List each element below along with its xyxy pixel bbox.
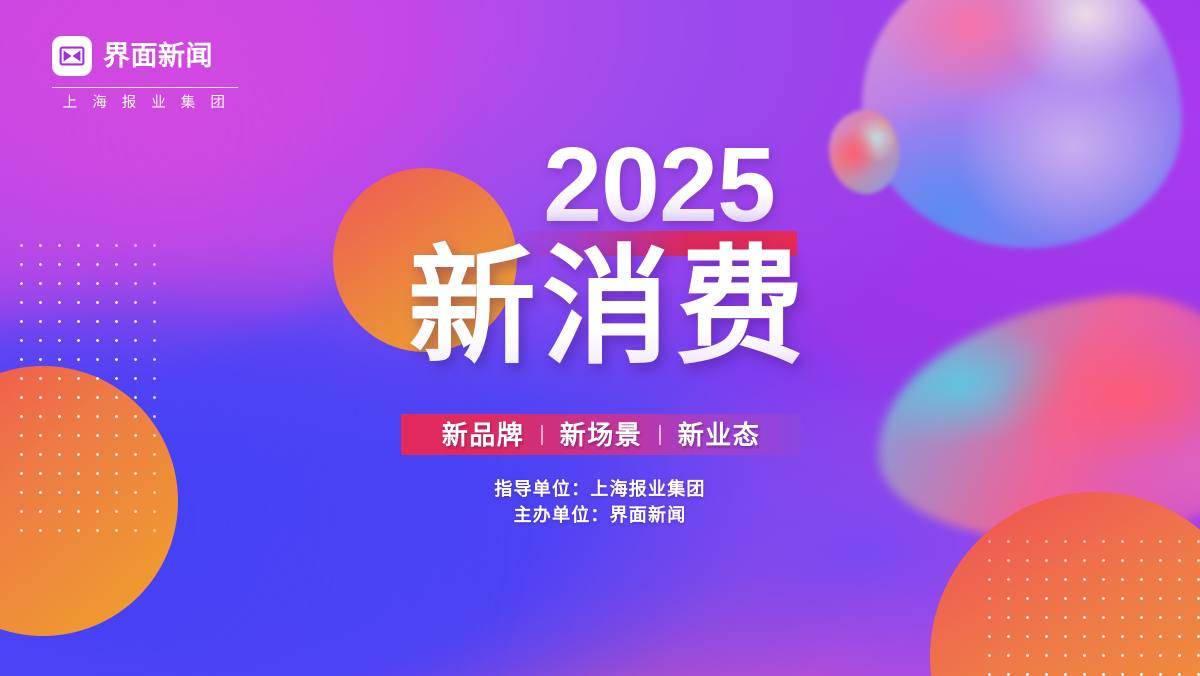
organizer-line-guidance: 指导单位：上海报业集团 bbox=[0, 476, 1200, 502]
hero-title: 新消费 bbox=[0, 240, 1200, 376]
subtitle-item-1: 新场景 bbox=[560, 422, 643, 448]
poster-canvas: 界面新闻 上 海 报 业 集 团 2025 新消费 新品牌 新场景 新业态 指导… bbox=[0, 0, 1200, 676]
subtitle-item-2: 新业态 bbox=[678, 422, 761, 448]
subtitle-separator-1 bbox=[659, 425, 661, 445]
hero-year: 2025 bbox=[0, 132, 1200, 238]
hero-area: 2025 新消费 bbox=[0, 0, 1200, 676]
organizer-line-host: 主办单位：界面新闻 bbox=[0, 502, 1200, 528]
subtitle-separator-0 bbox=[541, 425, 543, 445]
organizer-credits: 指导单位：上海报业集团 主办单位：界面新闻 bbox=[0, 476, 1200, 528]
subtitle-bar: 新品牌 新场景 新业态 bbox=[401, 414, 801, 455]
subtitle-item-0: 新品牌 bbox=[442, 422, 525, 448]
